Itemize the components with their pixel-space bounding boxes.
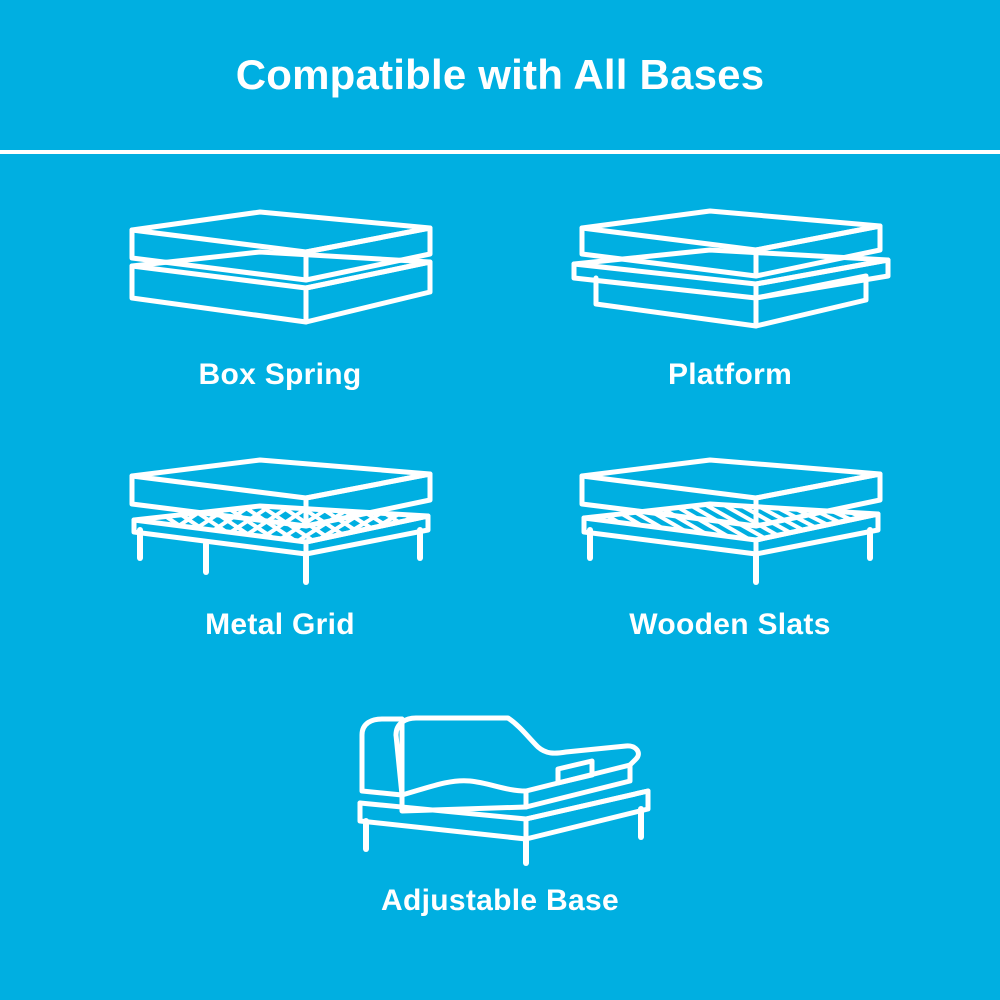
- bases-grid: Box Spring: [0, 154, 1000, 1000]
- base-item-metal-grid: Metal Grid: [60, 454, 500, 640]
- header: Compatible with All Bases: [0, 0, 1000, 150]
- base-item-box-spring: Box Spring: [60, 204, 500, 390]
- base-label-adjustable-base: Adjustable Base: [381, 886, 619, 916]
- platform-icon: [560, 204, 900, 334]
- base-label-metal-grid: Metal Grid: [205, 610, 355, 640]
- base-label-box-spring: Box Spring: [198, 360, 361, 390]
- base-label-wooden-slats: Wooden Slats: [629, 610, 830, 640]
- base-item-platform: Platform: [510, 204, 950, 390]
- metal-grid-icon: [110, 454, 450, 584]
- page-title: Compatible with All Bases: [236, 54, 765, 96]
- base-item-adjustable-base: Adjustable Base: [280, 699, 720, 916]
- wooden-slats-icon: [560, 454, 900, 584]
- box-spring-icon: [110, 204, 450, 334]
- base-item-wooden-slats: Wooden Slats: [510, 454, 950, 640]
- adjustable-base-icon: [330, 699, 670, 864]
- infographic-page: Compatible with All Bases: [0, 0, 1000, 1000]
- base-label-platform: Platform: [668, 360, 792, 390]
